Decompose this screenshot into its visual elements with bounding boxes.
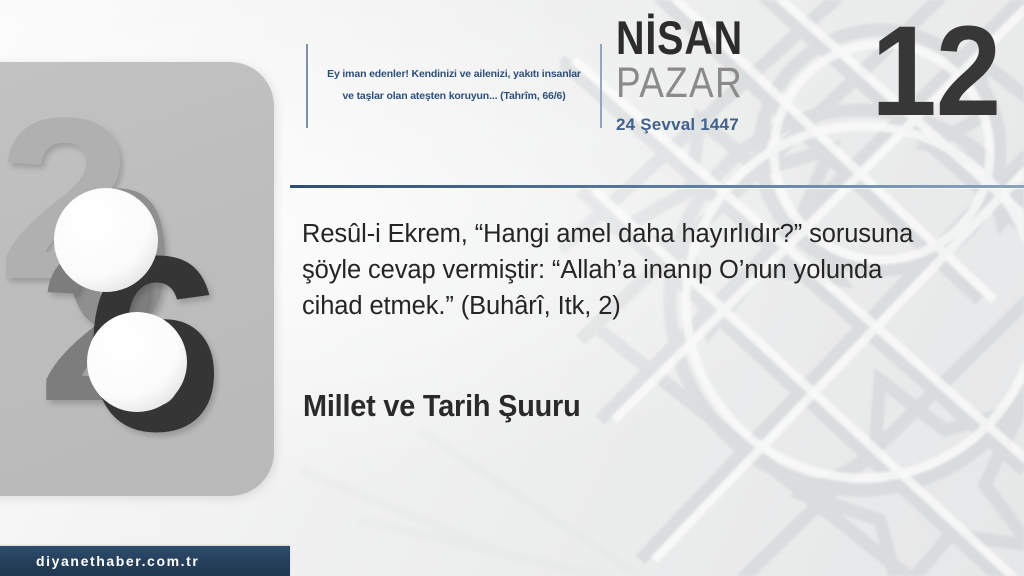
verse-line-1: Ey iman edenler! Kendinizi ve ailenizi, … — [327, 68, 581, 80]
year-2026-graphic: 2 0 2 6 — [4, 100, 260, 470]
header-divider — [290, 185, 1024, 188]
page-subtitle: Millet ve Tarih Şuuru — [303, 388, 581, 424]
hijri-date: 24 Şevval 1447 — [616, 115, 856, 135]
year-logo: 2 0 2 6 — [0, 62, 274, 496]
verse-line-2: ve taşlar olan ateşten koruyun... (Tahrî… — [342, 90, 565, 102]
website-url-text: diyanethaber.com.tr — [36, 553, 199, 569]
day-number: 12 — [871, 8, 1000, 136]
website-url-bar[interactable]: diyanethaber.com.tr — [0, 546, 290, 576]
date-block: NİSAN PAZAR 24 Şevval 1447 — [616, 16, 856, 135]
quran-verse-text: Ey iman edenler! Kendinizi ve ailenizi, … — [317, 64, 591, 107]
hadith-text: Resûl-i Ekrem, “Hangi amel daha hayırlıd… — [302, 216, 942, 325]
month-name: NİSAN — [616, 16, 818, 59]
quran-verse-box: Ey iman edenler! Kendinizi ve ailenizi, … — [306, 44, 602, 128]
year-logo-panel: 2 0 2 6 — [0, 62, 274, 496]
calendar-page: 2 0 2 6 Ey iman — [0, 0, 1024, 576]
weekday-name: PAZAR — [616, 61, 822, 106]
